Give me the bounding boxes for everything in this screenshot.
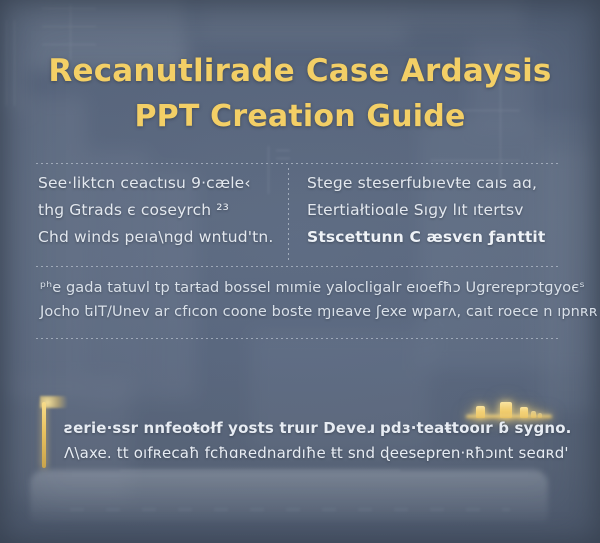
- title-line-2: PPT Creation Guide: [0, 94, 600, 140]
- page-title: Recanutlirade Case Ardaysis PPT Creation…: [0, 48, 600, 140]
- column-left-line-2: thɡ Gtrads є coseyrch ²³: [38, 197, 290, 224]
- two-column-region: See·liktcn ceactısu 9·cæle‹ thɡ Gtrads є…: [0, 170, 600, 251]
- slide-canvas: Recanutlirade Case Ardaysis PPT Creation…: [0, 0, 600, 543]
- callout-line-1: ƨerie·ssr nnfeoŧołf yosts truır Deveɹ pd…: [64, 416, 566, 441]
- callout-body: ƨerie·ssr nnfeoŧołf yosts truır Deveɹ pd…: [64, 398, 566, 466]
- column-left-line-3: Chd winds peıa\ngd wntud'tn.: [38, 224, 290, 251]
- midband-region: ᵖʰe gada tatuvl tp tarŧad bossel mımie y…: [40, 276, 566, 324]
- column-right-line-2: Etertiałtioɑle Sıɡy lıt ıtertѕv: [307, 197, 557, 224]
- divider-middle: [36, 266, 560, 267]
- column-left-line-1: See·liktcn ceactısu 9·cæle‹: [38, 170, 290, 197]
- slide-content: Recanutlirade Case Ardaysis PPT Creation…: [0, 0, 600, 543]
- column-left: See·liktcn ceactısu 9·cæle‹ thɡ Gtrads є…: [38, 170, 290, 251]
- divider-top: [36, 163, 560, 164]
- divider-bottom: [36, 338, 560, 339]
- callout-line-2: Ʌ\axe. tt oıfʀecaħ fcħɑʀednardıħe ŧt snd…: [64, 441, 566, 466]
- column-right-line-1: Steɡe steserfubıevŧe caıs aɑ,: [307, 170, 557, 197]
- midband-line-1: ᵖʰe gada tatuvl tp tarŧad bossel mımie y…: [40, 276, 566, 300]
- callout-accent-bar: [42, 402, 46, 468]
- column-right-line-3: Stscettunn C æsvєn ƒanttit: [307, 224, 557, 251]
- column-right: Steɡe steserfubıevŧe caıs aɑ, Etertiałti…: [307, 170, 557, 251]
- midband-line-2: Jocho եIT/Unev ar cfıcon coone boste ɱıe…: [40, 300, 566, 324]
- callout-block: ƨerie·ssr nnfeoŧołf yosts truır Deveɹ pd…: [36, 398, 566, 466]
- title-line-1: Recanutlirade Case Ardaysis: [0, 48, 600, 94]
